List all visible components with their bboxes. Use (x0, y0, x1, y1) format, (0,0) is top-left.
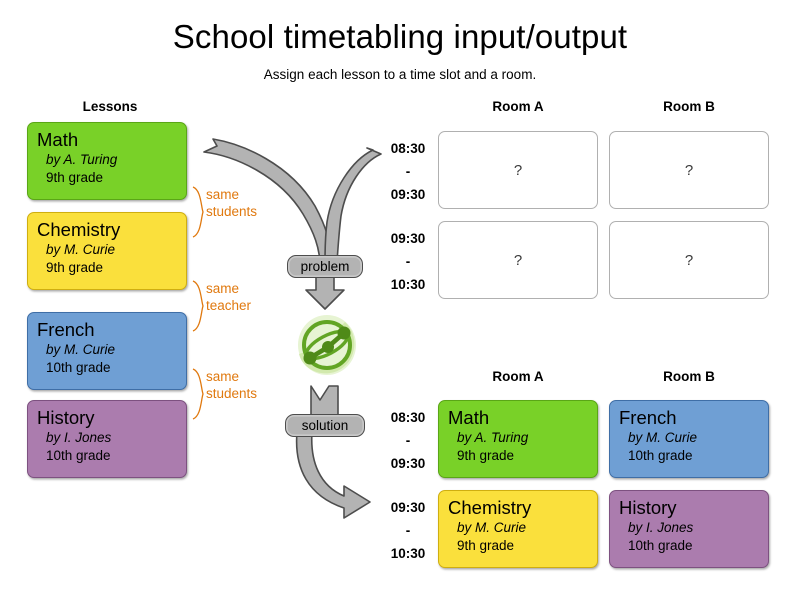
problem-cell-slot1-room-b[interactable]: ? (609, 131, 769, 209)
lesson-grade: 10th grade (619, 447, 759, 465)
lesson-subject: Math (37, 129, 177, 151)
lesson-card-history[interactable]: History by I. Jones 10th grade (27, 400, 187, 478)
constraint-same-students-2: same students (192, 368, 282, 420)
lesson-teacher: by M. Curie (619, 429, 759, 447)
lesson-subject: French (619, 407, 759, 429)
problem-cell-slot1-room-a[interactable]: ? (438, 131, 598, 209)
problem-output-arrow (306, 276, 344, 309)
constraint-label: same students (206, 368, 257, 402)
curly-bracket-icon (192, 186, 206, 238)
solution-room-a-header: Room A (438, 369, 598, 384)
optaplanner-solver-logo-icon (291, 309, 363, 381)
problem-input-arrow-right (325, 148, 381, 262)
constraint-same-teacher: same teacher (192, 280, 282, 332)
lesson-subject: French (37, 319, 177, 341)
problem-timeslot-2: 09:30 - 10:30 (377, 227, 439, 296)
lesson-teacher: by A. Turing (448, 429, 588, 447)
lesson-grade: 10th grade (37, 359, 177, 377)
constraint-label: same teacher (206, 280, 251, 314)
problem-cell-slot2-room-b[interactable]: ? (609, 221, 769, 299)
lessons-heading: Lessons (28, 99, 192, 114)
solution-cell-slot2-room-a[interactable]: Chemistry by M. Curie 9th grade (438, 490, 598, 568)
lesson-grade: 9th grade (448, 447, 588, 465)
solution-timeslot-1: 08:30 - 09:30 (377, 406, 439, 475)
lesson-subject: History (37, 407, 177, 429)
solution-badge: solution (285, 414, 365, 437)
lesson-subject: Chemistry (448, 497, 588, 519)
problem-badge: problem (287, 255, 363, 278)
problem-timeslot-1: 08:30 - 09:30 (377, 137, 439, 206)
lesson-card-math[interactable]: Math by A. Turing 9th grade (27, 122, 187, 200)
lesson-grade: 9th grade (37, 169, 177, 187)
lesson-teacher: by M. Curie (448, 519, 588, 537)
lesson-subject: History (619, 497, 759, 519)
lesson-grade: 9th grade (448, 537, 588, 555)
solution-output-arrow (297, 432, 370, 518)
curly-bracket-icon (192, 280, 206, 332)
lesson-card-chemistry[interactable]: Chemistry by M. Curie 9th grade (27, 212, 187, 290)
solution-cell-slot1-room-b[interactable]: French by M. Curie 10th grade (609, 400, 769, 478)
constraint-same-students-1: same students (192, 186, 282, 238)
lesson-grade: 9th grade (37, 259, 177, 277)
page-title: School timetabling input/output (0, 18, 800, 56)
problem-room-b-header: Room B (609, 99, 769, 114)
lesson-teacher: by M. Curie (37, 341, 177, 359)
lesson-grade: 10th grade (37, 447, 177, 465)
solution-cell-slot1-room-a[interactable]: Math by A. Turing 9th grade (438, 400, 598, 478)
page-subtitle: Assign each lesson to a time slot and a … (0, 67, 800, 82)
lesson-teacher: by M. Curie (37, 241, 177, 259)
solution-cell-slot2-room-b[interactable]: History by I. Jones 10th grade (609, 490, 769, 568)
problem-room-a-header: Room A (438, 99, 598, 114)
problem-cell-slot2-room-a[interactable]: ? (438, 221, 598, 299)
curly-bracket-icon (192, 368, 206, 420)
lesson-card-french[interactable]: French by M. Curie 10th grade (27, 312, 187, 390)
lesson-subject: Chemistry (37, 219, 177, 241)
lesson-grade: 10th grade (619, 537, 759, 555)
lesson-teacher: by A. Turing (37, 151, 177, 169)
solution-timeslot-2: 09:30 - 10:30 (377, 496, 439, 565)
lesson-teacher: by I. Jones (619, 519, 759, 537)
lesson-teacher: by I. Jones (37, 429, 177, 447)
lesson-subject: Math (448, 407, 588, 429)
constraint-label: same students (206, 186, 257, 220)
solution-room-b-header: Room B (609, 369, 769, 384)
